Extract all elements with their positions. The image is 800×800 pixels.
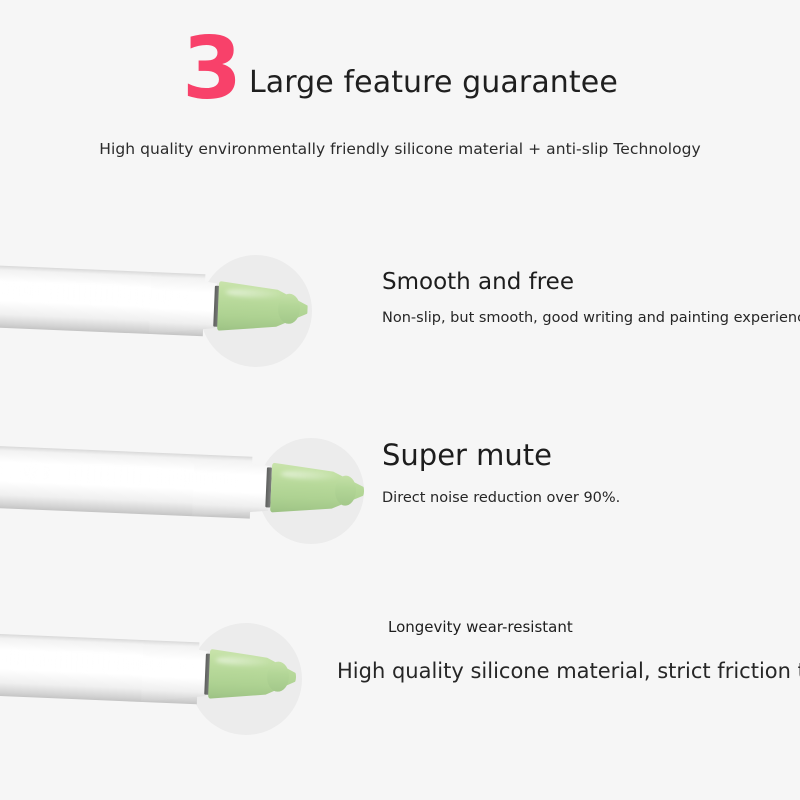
feature-description: High quality silicone material, strict f… (337, 659, 800, 684)
stylus-illustration (0, 250, 272, 354)
stylus-illustration (0, 619, 264, 723)
headline: 3 Large feature guarantee (0, 36, 800, 105)
feature-description: Non-slip, but smooth, good writing and p… (382, 310, 800, 327)
feature-count-number: 3 (182, 36, 240, 105)
feature-row: Longevity wear-resistant High quality si… (0, 605, 800, 760)
infographic-page: 3 Large feature guarantee High quality e… (0, 0, 800, 800)
feature-title: Longevity wear-resistant (388, 619, 800, 637)
stylus-shoulder (149, 272, 218, 337)
feature-description: Direct noise reduction over 90%. (382, 490, 620, 507)
feature-text-block: Super mute Direct noise reduction over 9… (382, 438, 620, 508)
stylus-shoulder (141, 640, 208, 705)
header-section: 3 Large feature guarantee High quality e… (0, 0, 800, 200)
stylus-shoulder (192, 454, 270, 519)
page-subtitle: High quality environmentally friendly si… (0, 140, 800, 158)
page-title: Large feature guarantee (249, 68, 618, 105)
feature-title: Super mute (382, 438, 620, 472)
feature-text-block: Smooth and free Non-slip, but smooth, go… (382, 269, 800, 328)
stylus-illustration (0, 431, 332, 538)
feature-row: Smooth and free Non-slip, but smooth, go… (0, 235, 800, 385)
feature-text-block: Longevity wear-resistant High quality si… (337, 619, 800, 684)
feature-title: Smooth and free (382, 269, 800, 296)
feature-row: Super mute Direct noise reduction over 9… (0, 420, 800, 570)
